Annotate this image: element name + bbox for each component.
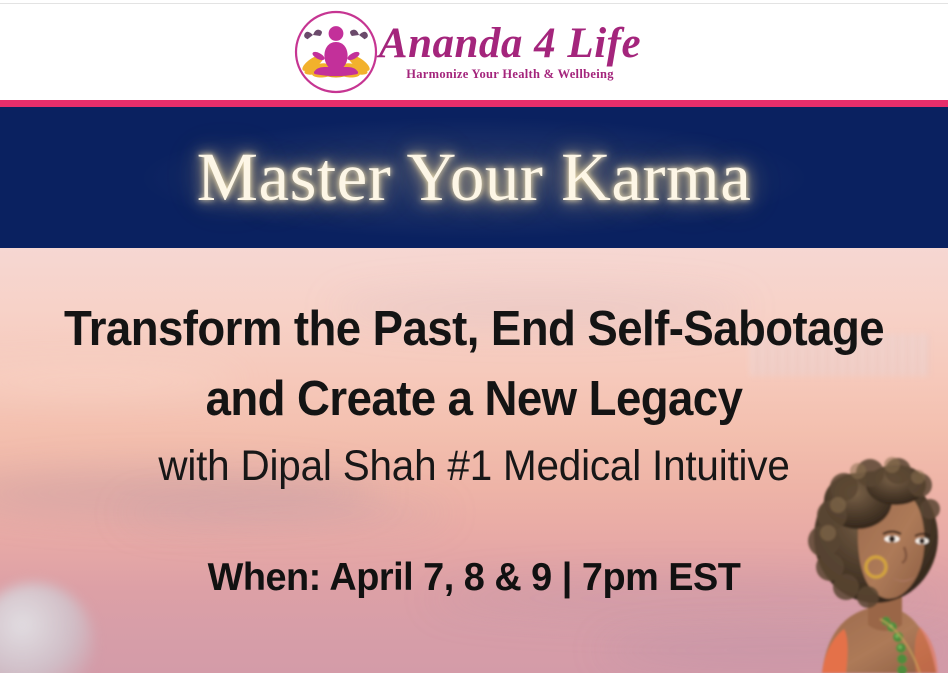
brand-tagline: Harmonize Your Health & Wellbeing [406, 67, 614, 82]
site-header: Ananda 4 Life Harmonize Your Health & We… [0, 4, 948, 100]
brand-name: Ananda 4 Life [379, 22, 641, 66]
headline-line-2: and Create a New Legacy [33, 364, 915, 434]
hero-copy: Transform the Past, End Self-Sabotage an… [0, 248, 948, 601]
banner-section: Master Your Karma [0, 107, 948, 248]
brand-logo[interactable]: Ananda 4 Life Harmonize Your Health & We… [293, 9, 647, 95]
hero-section: Transform the Past, End Self-Sabotage an… [0, 248, 948, 673]
landing-page: Ananda 4 Life Harmonize Your Health & We… [0, 0, 948, 673]
event-date-line: When: April 7, 8 & 9 | 7pm EST [14, 492, 934, 601]
brand-wordmark: Ananda 4 Life Harmonize Your Health & We… [379, 22, 641, 82]
page-title: Transform the Past, End Self-Sabotage an… [33, 248, 915, 434]
cloud-wisp [600, 633, 948, 667]
presenter-subheadline: with Dipal Shah #1 Medical Intuitive [28, 434, 919, 492]
headline-line-1: Transform the Past, End Self-Sabotage [64, 302, 884, 356]
magenta-divider [0, 100, 948, 107]
banner-title: Master Your Karma [197, 143, 752, 212]
lotus-meditation-figure-icon [293, 9, 379, 95]
